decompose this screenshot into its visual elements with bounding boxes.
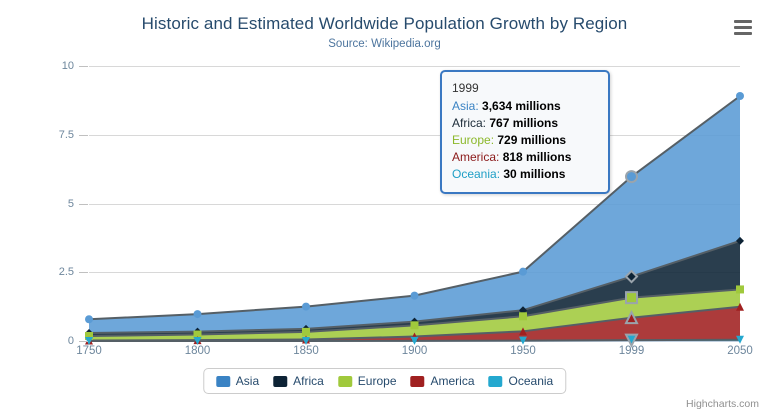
x-axis-tick-label: 1999 [619, 345, 645, 357]
legend-swatch-oceania [489, 376, 503, 387]
legend-label: Oceania [509, 374, 554, 388]
y-axis-tick-label: 10 [0, 60, 74, 72]
legend-item-europe[interactable]: Europe [338, 374, 397, 388]
tooltip-rows: Asia: 3,634 millionsAfrica: 767 millions… [452, 98, 598, 183]
legend-item-america[interactable]: America [411, 374, 475, 388]
plot-area [89, 66, 740, 341]
data-point-europe-1999[interactable] [626, 292, 637, 303]
tooltip-row-asia: Asia: 3,634 millions [452, 98, 598, 115]
tooltip-series-value: 767 millions [489, 116, 558, 130]
chart-subtitle: Source: Wikipedia.org [0, 38, 769, 50]
chart-title: Historic and Estimated Worldwide Populat… [0, 14, 769, 34]
y-axis-tick-mark [79, 66, 88, 67]
y-axis-tick-mark [79, 204, 88, 205]
data-point-asia-1900[interactable] [411, 292, 419, 300]
x-axis-tick-label: 1750 [76, 345, 102, 357]
data-point-europe-1850[interactable] [302, 328, 310, 336]
legend-label: Europe [358, 374, 397, 388]
tooltip: 1999 Asia: 3,634 millionsAfrica: 767 mil… [440, 70, 610, 194]
data-point-asia-1800[interactable] [194, 310, 202, 318]
series-layer [89, 66, 740, 341]
data-point-asia-1999[interactable] [626, 171, 637, 182]
legend-item-asia[interactable]: Asia [216, 374, 259, 388]
legend-item-africa[interactable]: Africa [273, 374, 324, 388]
x-axis-tick-label: 1800 [185, 345, 211, 357]
tooltip-series-name: Europe: [452, 133, 497, 147]
tooltip-row-africa: Africa: 767 millions [452, 115, 598, 132]
tooltip-series-value: 818 millions [503, 150, 572, 164]
legend-item-oceania[interactable]: Oceania [489, 374, 554, 388]
tooltip-row-europe: Europe: 729 millions [452, 132, 598, 149]
tooltip-series-name: Africa: [452, 116, 489, 130]
tooltip-series-value: 30 millions [503, 167, 565, 181]
legend-swatch-america [411, 376, 425, 387]
tooltip-series-value: 729 millions [497, 133, 566, 147]
data-point-asia-1850[interactable] [302, 303, 310, 311]
y-axis-tick-label: 0 [0, 335, 74, 347]
tooltip-series-name: America: [452, 150, 503, 164]
tooltip-header: 1999 [452, 80, 598, 98]
data-point-asia-1950[interactable] [519, 268, 527, 276]
hamburger-bar-3 [734, 32, 752, 35]
hamburger-bar-1 [734, 20, 752, 23]
data-point-europe-2050[interactable] [736, 285, 744, 293]
hamburger-menu-icon[interactable] [731, 16, 755, 38]
y-axis-tick-mark [79, 341, 88, 342]
tooltip-series-value: 3,634 millions [482, 99, 561, 113]
tooltip-row-america: America: 818 millions [452, 149, 598, 166]
x-axis-tick-label: 2050 [727, 345, 753, 357]
y-axis-title: Billions [0, 156, 3, 196]
y-axis-tick-mark [79, 135, 88, 136]
data-point-asia-1750[interactable] [85, 315, 93, 323]
x-axis-tick-label: 1850 [293, 345, 319, 357]
tooltip-series-name: Asia: [452, 99, 482, 113]
y-axis-tick-label: 5 [0, 198, 74, 210]
legend-label: America [431, 374, 475, 388]
tooltip-row-oceania: Oceania: 30 millions [452, 166, 598, 183]
data-point-europe-1900[interactable] [411, 321, 419, 329]
legend-label: Africa [293, 374, 324, 388]
credits-label[interactable]: Highcharts.com [686, 398, 759, 410]
legend-swatch-africa [273, 376, 287, 387]
x-axis-tick-label: 1900 [402, 345, 428, 357]
data-point-asia-2050[interactable] [736, 92, 744, 100]
y-axis-tick-label: 2.5 [0, 266, 74, 278]
x-axis-tick-label: 1950 [510, 345, 536, 357]
legend-label: Asia [236, 374, 259, 388]
highcharts-container: Historic and Estimated Worldwide Populat… [0, 0, 769, 416]
hamburger-bar-2 [734, 26, 752, 29]
legend[interactable]: AsiaAfricaEuropeAmericaOceania [203, 368, 566, 394]
legend-swatch-europe [338, 376, 352, 387]
y-axis-tick-mark [79, 272, 88, 273]
data-point-europe-1950[interactable] [519, 312, 527, 320]
legend-swatch-asia [216, 376, 230, 387]
tooltip-series-name: Oceania: [452, 167, 503, 181]
y-axis-tick-label: 7.5 [0, 129, 74, 141]
